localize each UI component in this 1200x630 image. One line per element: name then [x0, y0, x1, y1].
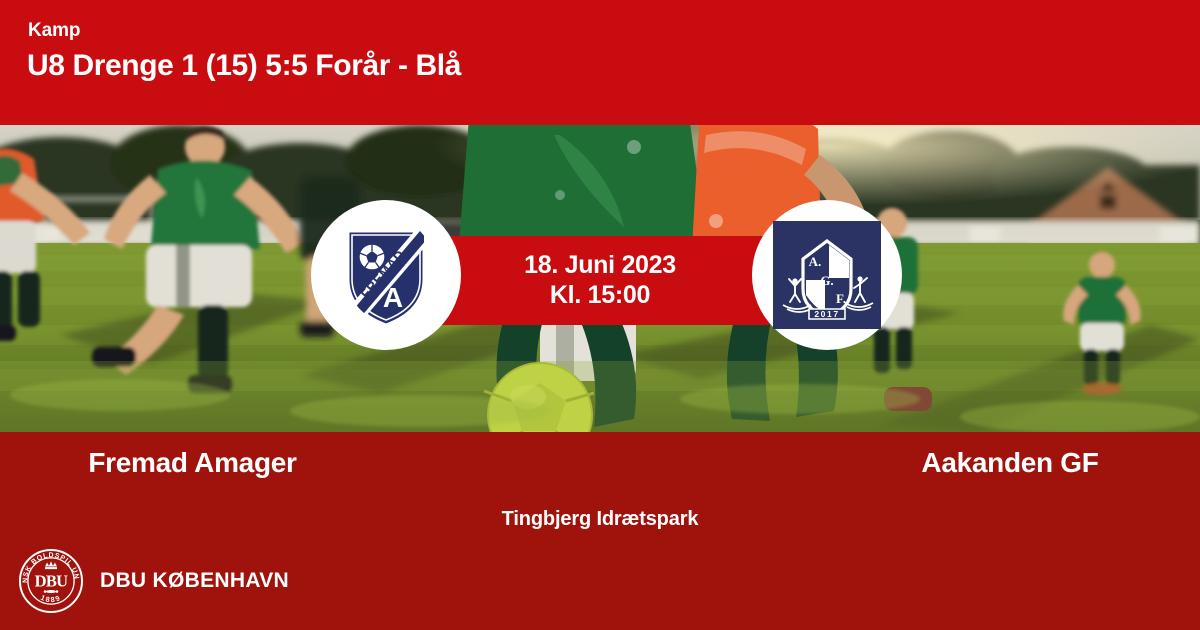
svg-text:2017: 2017 [814, 309, 839, 319]
poster-bottom: Fremad Amager Aakanden GF Tingbjerg Idræ… [0, 432, 1200, 630]
away-team-name: Aakanden GF [600, 446, 1200, 480]
match-time: Kl. 15:00 [550, 281, 650, 311]
match-date: 18. Juni 2023 [524, 251, 676, 281]
svg-text:A: A [383, 282, 403, 313]
page-title: U8 Drenge 1 (15) 5:5 Forår - Blå [27, 49, 461, 83]
footer-branding: DANSK BOLDSPIL UNION 1889 DBU [18, 548, 289, 614]
fremad-amager-crest-icon: FREMAD A [330, 219, 442, 331]
header-eyebrow: Kamp [28, 20, 80, 42]
svg-text:A.: A. [809, 254, 822, 269]
match-poster: Kamp U8 Drenge 1 (15) 5:5 Forår - Blå [0, 0, 1200, 630]
dbu-logo-icon: DANSK BOLDSPIL UNION 1889 DBU [18, 548, 84, 614]
svg-text:DBU: DBU [35, 571, 69, 590]
svg-text:1889: 1889 [39, 593, 62, 604]
aakanden-gf-crest-icon: A. G. F. [773, 221, 881, 329]
home-team-crest[interactable]: FREMAD A [311, 200, 461, 350]
match-venue: Tingbjerg Idrætspark [0, 508, 1200, 531]
match-date-banner: 18. Juni 2023 Kl. 15:00 [430, 236, 770, 325]
home-team-name: Fremad Amager [0, 446, 600, 480]
poster-header: Kamp U8 Drenge 1 (15) 5:5 Forår - Blå [0, 0, 1200, 125]
organisation-name: DBU KØBENHAVN [100, 569, 289, 593]
svg-text:F.: F. [836, 291, 846, 306]
svg-text:G.: G. [820, 273, 833, 288]
away-team-crest[interactable]: A. G. F. [752, 200, 902, 350]
team-names-row: Fremad Amager Aakanden GF [0, 446, 1200, 480]
